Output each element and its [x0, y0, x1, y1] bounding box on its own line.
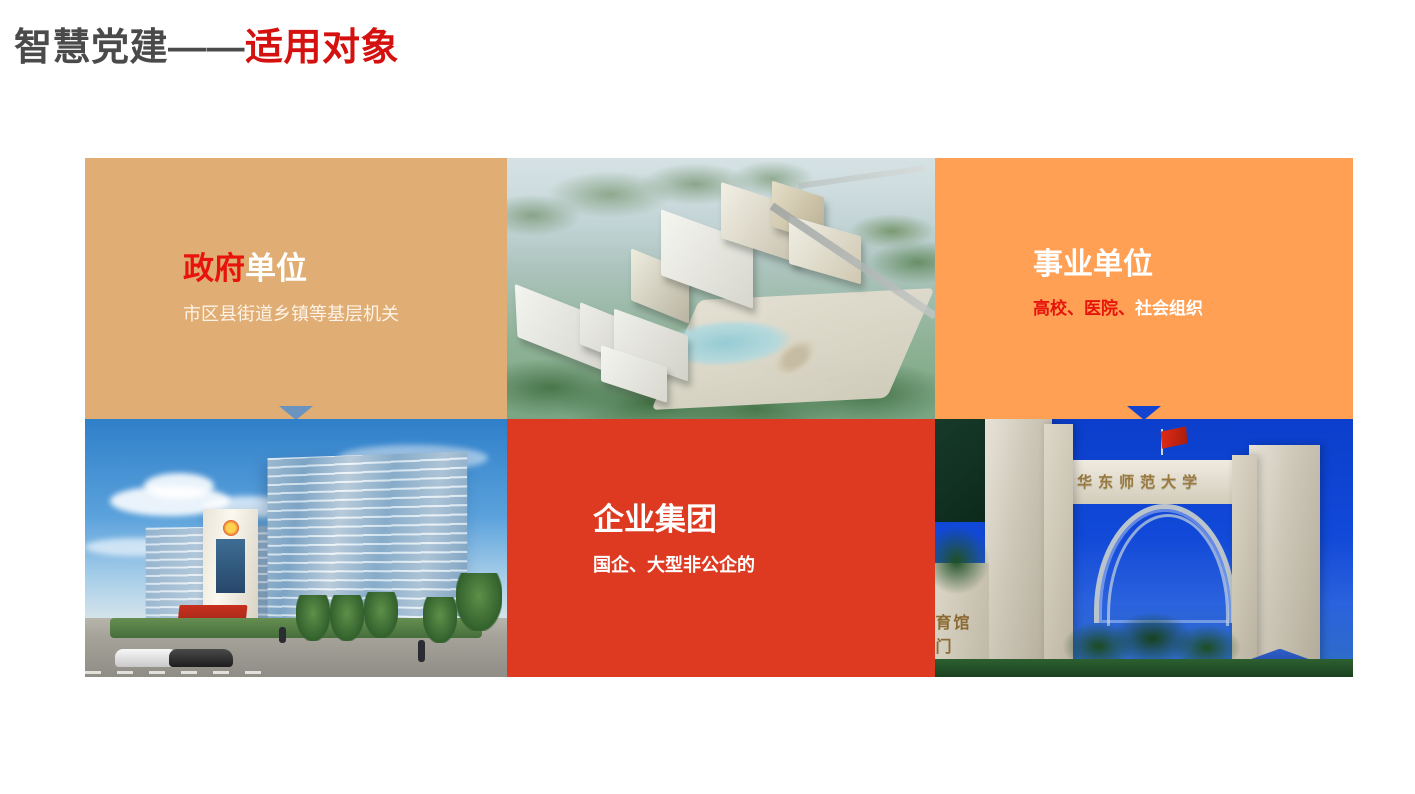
gate-pillar-right: [1249, 445, 1320, 677]
tree-shape: [456, 573, 502, 631]
pedestrian-figure: [279, 627, 286, 643]
public-institution-subtitle: 高校、医院、社会组织: [1033, 298, 1203, 320]
slide-canvas: 智慧党建——适用对象 政府单位 市区县街道乡镇等基层机关: [0, 0, 1415, 794]
university-gate-image: 华东师范大学 育馆门: [935, 419, 1353, 677]
card-university-gate[interactable]: 华东师范大学 育馆门: [935, 419, 1353, 677]
road-lane-marking: [85, 671, 262, 674]
office-portal-void: [216, 539, 245, 593]
government-panel: 政府单位 市区县街道乡镇等基层机关: [85, 158, 507, 419]
gate-dark-foliage-left: [935, 419, 985, 522]
government-heading-red: 政府: [183, 251, 245, 286]
enterprise-group-panel: 企业集团 国企、大型非公企的: [507, 419, 935, 677]
gate-wall-sign-text: 育馆门: [936, 609, 990, 657]
car-shape-dark: [169, 649, 233, 667]
tree-shape: [935, 527, 989, 594]
enterprise-group-text-block: 企业集团 国企、大型非公企的: [593, 501, 755, 577]
public-institution-subtitle-white: 社会组织: [1135, 299, 1203, 318]
gate-pillar-left: [985, 419, 1052, 677]
government-text-block: 政府单位 市区县街道乡镇等基层机关: [183, 250, 399, 326]
public-institution-subtitle-red: 高校、医院、: [1033, 299, 1135, 318]
government-campus-aerial-image: [507, 158, 935, 419]
page-title-main: 智慧党建: [14, 27, 168, 69]
public-institution-heading: 事业单位: [1033, 246, 1203, 284]
gate-sign-text: 华东师范大学: [1077, 471, 1253, 492]
page-title: 智慧党建——适用对象: [14, 26, 399, 72]
government-heading: 政府单位: [183, 250, 399, 289]
chevron-down-icon-government: [279, 406, 313, 419]
government-office-building-image: [85, 419, 507, 677]
public-institution-text-block: 事业单位 高校、医院、社会组织: [1033, 246, 1203, 320]
national-flag-icon: [1160, 427, 1187, 450]
card-gov-campus-aerial[interactable]: [507, 158, 935, 419]
applicable-targets-grid: 政府单位 市区县街道乡镇等基层机关: [85, 158, 1353, 677]
chevron-up-icon-enterprise-group: [702, 419, 740, 420]
government-heading-white: 单位: [245, 251, 307, 286]
tree-shape: [330, 595, 364, 641]
card-gov-office-building[interactable]: [85, 419, 507, 677]
card-government[interactable]: 政府单位 市区县街道乡镇等基层机关: [85, 158, 507, 419]
tree-shape: [423, 597, 457, 643]
card-public-institution[interactable]: 事业单位 高校、医院、社会组织: [935, 158, 1353, 419]
enterprise-group-heading: 企业集团: [593, 501, 755, 540]
tree-shape: [364, 592, 398, 638]
pedestrian-figure: [418, 640, 425, 662]
government-subtitle: 市区县街道乡镇等基层机关: [183, 303, 399, 326]
tree-shape: [296, 595, 330, 641]
page-title-accent: 适用对象: [245, 27, 399, 69]
enterprise-group-subtitle: 国企、大型非公企的: [593, 554, 755, 577]
page-title-dash: ——: [168, 27, 245, 69]
chevron-down-icon-public-institution: [1127, 406, 1161, 419]
public-institution-panel: 事业单位 高校、医院、社会组织: [935, 158, 1353, 419]
national-emblem-icon: [223, 520, 239, 536]
gate-hedge-row: [935, 659, 1353, 677]
card-enterprise-group[interactable]: 企业集团 国企、大型非公企的: [507, 419, 935, 677]
